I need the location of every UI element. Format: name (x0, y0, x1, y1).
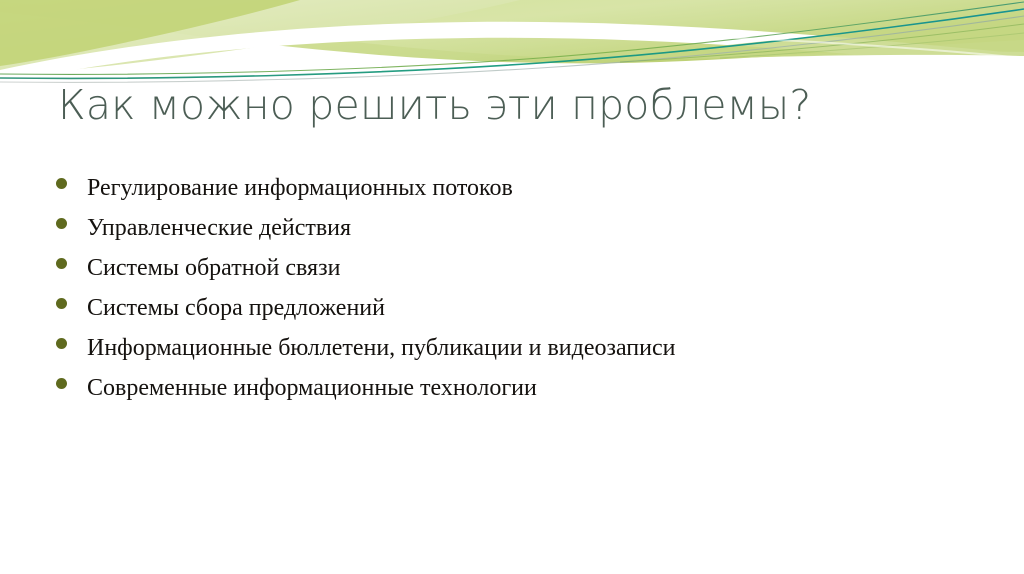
presentation-slide: Как можно решить эти проблемы? Регулиров… (0, 0, 1024, 574)
wave-line-fan-5 (720, 33, 1024, 58)
wave-line-fan-1 (0, 2, 1024, 74)
wave-band-right-lobe (590, 18, 1024, 60)
wave-band-left-wedge (0, 0, 300, 66)
list-item-label: Управленческие действия (87, 208, 976, 248)
list-item: Системы обратной связи (56, 248, 976, 288)
list-item: Современные информационные технологии (56, 368, 976, 408)
bullet-dot-icon (56, 178, 67, 189)
list-item-label: Системы обратной связи (87, 248, 976, 288)
bullet-dot-icon (56, 338, 67, 349)
list-item-label: Регулирование информационных потоков (87, 168, 976, 208)
bullet-dot-icon (56, 218, 67, 229)
wave-line-fan-4 (620, 24, 1024, 62)
list-item: Регулирование информационных потоков (56, 168, 976, 208)
wave-band-secondary (0, 0, 1024, 60)
list-item: Системы сбора предложений (56, 288, 976, 328)
list-item-label: Информационные бюллетени, публикации и в… (87, 328, 976, 368)
wave-band-primary (0, 0, 1024, 63)
bullet-dot-icon (56, 258, 67, 269)
page-title: Как можно решить эти проблемы? (58, 84, 978, 127)
wave-band-left-block (0, 0, 520, 76)
wave-swoosh-white (0, 22, 1024, 84)
wave-line-fan-2 (0, 9, 1024, 78)
list-item: Управленческие действия (56, 208, 976, 248)
list-item-label: Системы сбора предложений (87, 288, 976, 328)
bullet-dot-icon (56, 378, 67, 389)
wave-line-fan-3 (0, 16, 1024, 82)
bullet-list: Регулирование информационных потоков Упр… (56, 168, 976, 408)
list-item-label: Современные информационные технологии (87, 368, 976, 408)
list-item: Информационные бюллетени, публикации и в… (56, 328, 976, 368)
bullet-dot-icon (56, 298, 67, 309)
wave-line-highlight (40, 31, 1024, 66)
